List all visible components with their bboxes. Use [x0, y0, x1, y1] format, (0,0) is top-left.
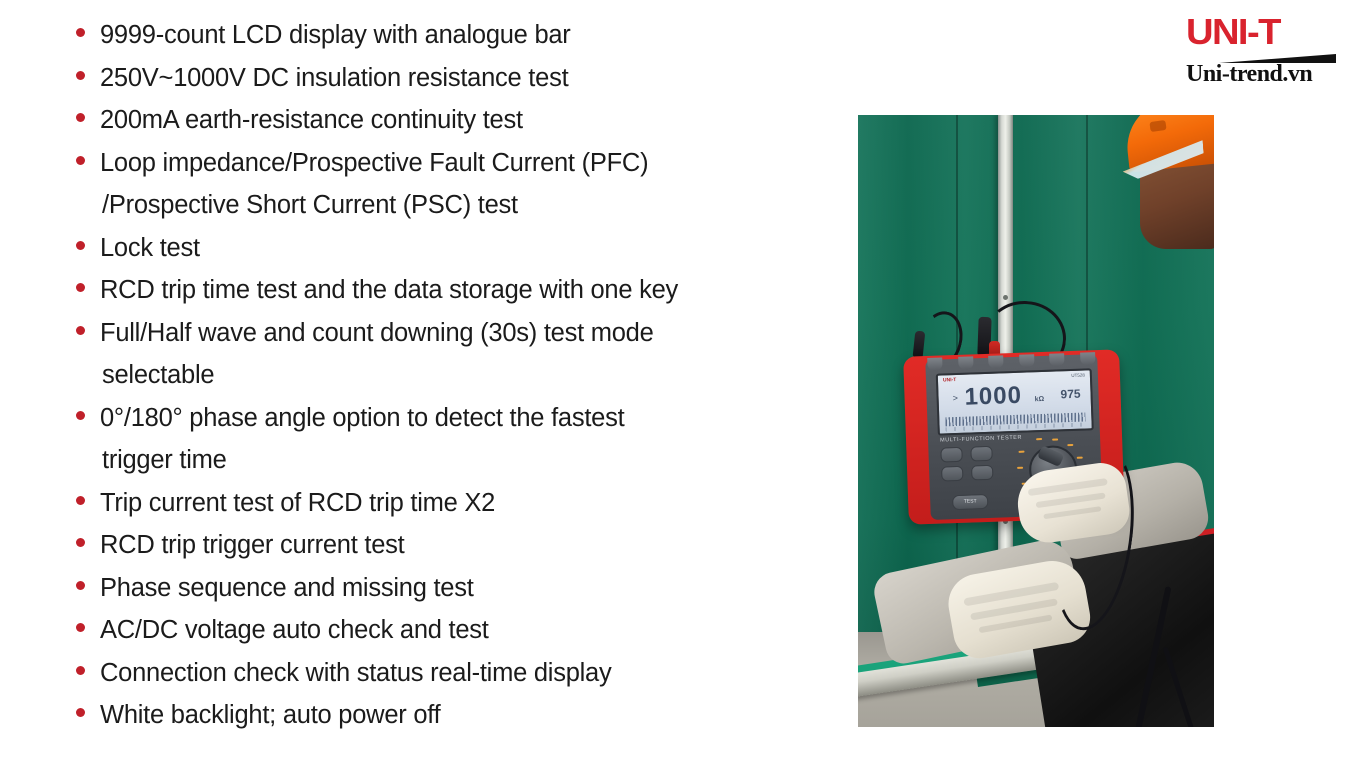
bullet-icon [76, 524, 100, 547]
lcd-prefix-symbol: > [952, 393, 958, 403]
tester-button[interactable] [970, 446, 993, 462]
lcd-model-label: UT528 [1071, 372, 1085, 377]
list-item: Connection check with status real-time d… [76, 652, 866, 695]
list-item-label: AC/DC voltage auto check and test [100, 609, 489, 652]
list-item-label: Trip current test of RCD trip time X2 [100, 482, 495, 525]
tester-button-pad [940, 445, 1011, 491]
bullet-icon [76, 227, 100, 250]
bullet-icon [76, 269, 100, 292]
list-item: Phase sequence and missing test [76, 567, 866, 610]
lcd-secondary-value: 975 [1060, 387, 1081, 402]
bullet-icon [76, 312, 100, 335]
bullet-icon [76, 609, 100, 632]
list-item: Trip current test of RCD trip time X2 [76, 482, 866, 525]
brand-logo: UNI-T Uni-trend.vn [1186, 18, 1338, 80]
slide-root: 9999-count LCD display with analogue bar… [0, 0, 1366, 768]
list-item-continuation: /Prospective Short Current (PSC) test [76, 184, 866, 227]
lcd-brand-label: UNI-T [943, 377, 957, 383]
list-item: RCD trip time test and the data storage … [76, 269, 866, 312]
tester-test-button[interactable]: TEST [952, 494, 989, 510]
tester-lcd-display: UNI-T UT528 > 1000 kΩ 975 [936, 368, 1094, 435]
list-item: AC/DC voltage auto check and test [76, 609, 866, 652]
list-item-label: Lock test [100, 227, 200, 270]
list-item-label: Loop impedance/Prospective Fault Current… [100, 142, 648, 185]
list-item-label: RCD trip time test and the data storage … [100, 269, 678, 312]
list-item-label: Full/Half wave and count downing (30s) t… [100, 312, 654, 355]
logo-wordmark: UNI-T [1186, 14, 1280, 50]
lcd-main-value: 1000 [964, 384, 1022, 410]
tester-button[interactable] [940, 447, 963, 463]
list-item-label: Connection check with status real-time d… [100, 652, 612, 695]
list-item: RCD trip trigger current test [76, 524, 866, 567]
tester-button[interactable] [941, 466, 964, 482]
bullet-icon [76, 694, 100, 717]
list-item: Lock test [76, 227, 866, 270]
list-item: 9999-count LCD display with analogue bar [76, 14, 866, 57]
list-item-label: 0°/180° phase angle option to detect the… [100, 397, 624, 440]
bullet-icon [76, 99, 100, 122]
list-item: 250V~1000V DC insulation resistance test [76, 57, 866, 100]
product-photo: UNI-T UT528 > 1000 kΩ 975 MULTI-FUNCTION… [858, 115, 1214, 727]
logo-subtitle: Uni-trend.vn [1186, 62, 1312, 86]
list-item: Loop impedance/Prospective Fault Current… [76, 142, 866, 185]
list-item: 0°/180° phase angle option to detect the… [76, 397, 866, 440]
bullet-icon [76, 142, 100, 165]
list-item-label: 200mA earth-resistance continuity test [100, 99, 523, 142]
lcd-main-unit: kΩ [1035, 396, 1045, 403]
list-item-continuation: selectable [76, 354, 866, 397]
logo-mark: UNI-T [1186, 18, 1338, 56]
list-item-label: White backlight; auto power off [100, 694, 440, 737]
list-item-label: RCD trip trigger current test [100, 524, 405, 567]
list-item: 200mA earth-resistance continuity test [76, 99, 866, 142]
list-item-label: 250V~1000V DC insulation resistance test [100, 57, 568, 100]
bullet-icon [76, 397, 100, 420]
list-item: White backlight; auto power off [76, 694, 866, 737]
list-item: Full/Half wave and count downing (30s) t… [76, 312, 866, 355]
bullet-icon [76, 57, 100, 80]
list-item-label: 9999-count LCD display with analogue bar [100, 14, 571, 57]
list-item-label: Phase sequence and missing test [100, 567, 474, 610]
feature-list: 9999-count LCD display with analogue bar… [76, 14, 866, 737]
post-bolt [1003, 295, 1008, 300]
bullet-icon [76, 567, 100, 590]
tester-button[interactable] [971, 465, 994, 481]
list-item-continuation: trigger time [76, 439, 866, 482]
bullet-icon [76, 14, 100, 37]
bullet-icon [76, 482, 100, 505]
bullet-icon [76, 652, 100, 675]
